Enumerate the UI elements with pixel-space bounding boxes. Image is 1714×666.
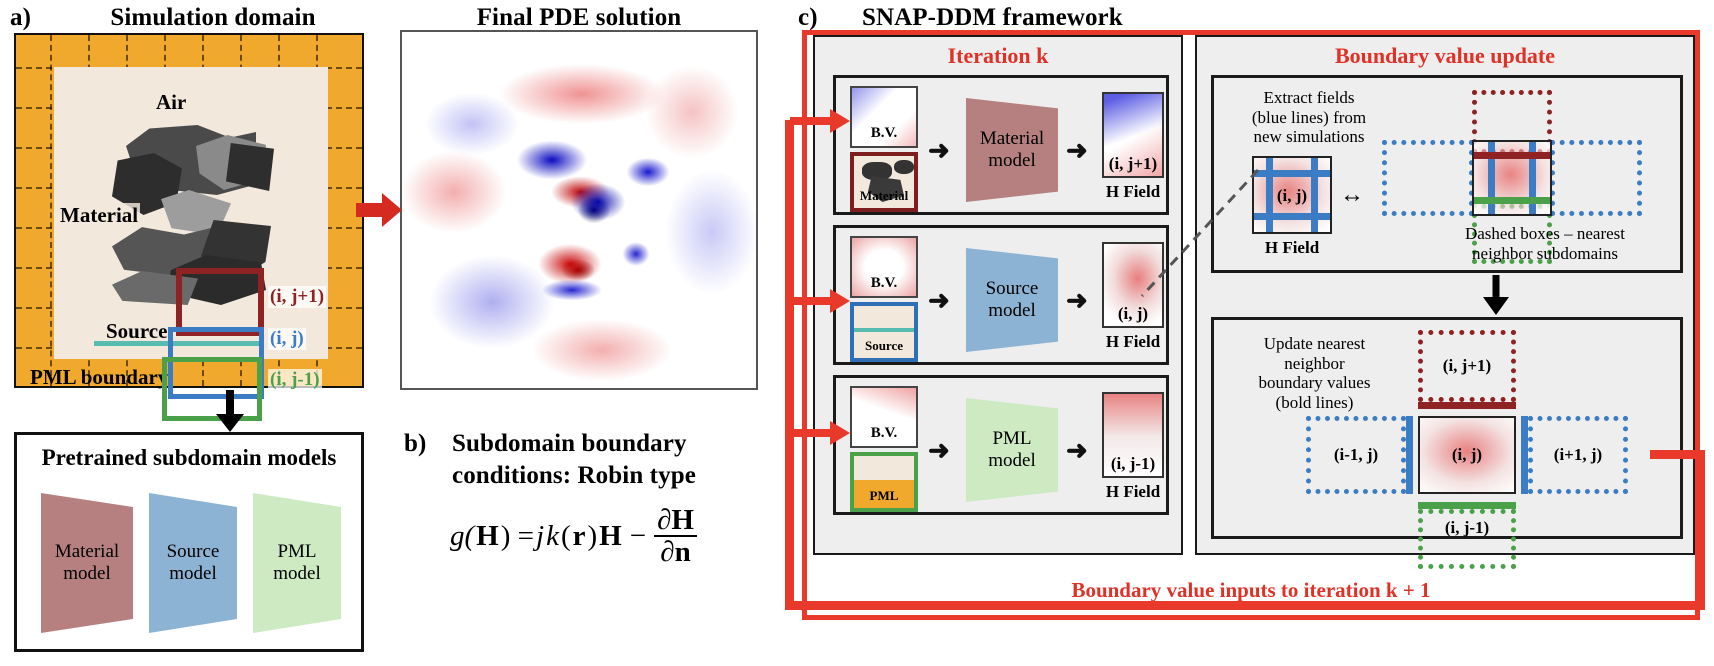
bv-input-source: B.V. xyxy=(850,236,918,298)
input-type-label: PML xyxy=(854,488,914,504)
arrow-to-model-icon: ➜ xyxy=(928,138,950,164)
material-row: B.V. Material ➜ Material model ➜ (i, j+1… xyxy=(833,75,1169,215)
extract-line2: (blue lines) from xyxy=(1252,108,1366,127)
neighbor-center-field xyxy=(1472,140,1552,216)
model-label-line1: Source xyxy=(986,278,1039,299)
panel-b-title-line2: conditions: Robin type xyxy=(452,462,696,490)
bv-input-pml: B.V. xyxy=(850,386,918,448)
source-row: B.V. Source ➜ Source model ➜ (i, j) H Fi… xyxy=(833,225,1169,365)
final-pde-solution-figure xyxy=(400,30,758,390)
right-arrow-to-pde xyxy=(356,192,402,228)
subdomain-box-top xyxy=(176,268,264,336)
model-label-line2: model xyxy=(988,450,1036,471)
note-line2: neighbor subdomains xyxy=(1472,244,1618,263)
model-shape-source: Source model xyxy=(149,493,237,633)
model-shape-material: Material model xyxy=(41,493,133,633)
update-neighbors-text: Update nearest neighbor boundary values … xyxy=(1222,334,1407,412)
dashed-connector xyxy=(1140,168,1260,298)
index-label-bottom: (i, j-1) xyxy=(268,369,322,391)
feedback-bus-right-vertical xyxy=(1696,450,1705,610)
eq-g: g( xyxy=(450,520,474,553)
boundary-update-panel: Boundary value update Extract fields (bl… xyxy=(1195,35,1695,555)
bold-line-bottom xyxy=(1418,502,1516,509)
eq-k: k xyxy=(546,520,559,553)
neighbor-dash-left xyxy=(1382,140,1474,216)
output-index-label: (i, j-1) xyxy=(1104,454,1162,474)
hfield-output-pml: (i, j-1) xyxy=(1102,392,1164,478)
feedback-arrow-source xyxy=(790,288,850,314)
model-shape-material: Material model xyxy=(966,98,1058,202)
extract-fields-text: Extract fields (blue lines) from new sim… xyxy=(1224,88,1394,147)
feedback-arrow-pml xyxy=(790,420,850,446)
output-index-label: (i, j) xyxy=(1104,304,1162,324)
model-label-line2: model xyxy=(63,563,111,584)
arrow-to-model-icon: ➜ xyxy=(928,288,950,314)
model-label-line2: model xyxy=(169,563,217,584)
update-line1: Update nearest xyxy=(1264,334,1365,353)
model-label-line1: Source xyxy=(167,541,220,562)
panel-b-title-line1: Subdomain boundary xyxy=(452,430,687,458)
neighbor-label-bottom: (i, j-1) xyxy=(1445,518,1489,538)
model-label-line2: model xyxy=(273,563,321,584)
update-line4: (bold lines) xyxy=(1276,393,1354,412)
update-line3: boundary values xyxy=(1259,373,1371,392)
update-line2: neighbor xyxy=(1284,354,1344,373)
feedback-bus-right-stub xyxy=(1650,450,1705,459)
extract-field-index: (i, j) xyxy=(1254,186,1330,206)
eq-minus: − xyxy=(630,520,646,553)
eq-H2: H xyxy=(599,520,622,553)
hfield-caption: H Field xyxy=(1102,482,1164,502)
neighbor-dash-right xyxy=(1550,140,1642,216)
model-label-line2: model xyxy=(988,150,1036,171)
model-label-line2: model xyxy=(988,300,1036,321)
neighbor-label-right: (i+1, j) xyxy=(1554,445,1602,465)
eq-H1: H xyxy=(476,520,499,553)
model-shape-pml: PML model xyxy=(253,493,341,633)
update-neighbor-top: (i, j+1) xyxy=(1418,330,1516,402)
eq-frac-denominator: ∂n xyxy=(654,537,697,567)
pml-row: B.V. PML ➜ PML model ➜ (i, j-1) H Field xyxy=(833,375,1169,515)
input-type-label: Material xyxy=(854,188,914,204)
eq-frac-numerator: ∂H xyxy=(654,505,697,537)
robin-equation: g( H ) = j k ( r ) H − ∂H ∂n xyxy=(450,505,750,568)
eq-paren-close: ) xyxy=(587,520,597,553)
iteration-title: Iteration k xyxy=(815,43,1181,69)
bv-input-material: B.V. xyxy=(850,86,918,148)
index-label-middle: (i, j) xyxy=(268,328,306,350)
panel-c-tag: c) xyxy=(798,4,818,32)
index-label-top: (i, j+1) xyxy=(268,286,326,308)
bv-label: B.V. xyxy=(852,275,916,292)
update-center-field: (i, j) xyxy=(1418,416,1516,494)
update-neighbor-right: (i+1, j) xyxy=(1528,416,1628,494)
arrow-to-output-icon: ➜ xyxy=(1066,288,1088,314)
down-arrow-to-models xyxy=(210,390,250,432)
neighbor-label-top: (i, j+1) xyxy=(1443,356,1491,376)
pretrained-models-title: Pretrained subdomain models xyxy=(17,445,361,471)
bold-line-left xyxy=(1406,416,1413,494)
pde-panel-title: Final PDE solution xyxy=(400,4,758,32)
model-shape-source: Source model xyxy=(966,248,1058,352)
note-line1: Dashed boxes – nearest xyxy=(1465,224,1625,243)
model-label-line1: Material xyxy=(55,541,119,562)
update-neighbor-left: (i-1, j) xyxy=(1306,416,1406,494)
hfield-output-material: (i, j+1) xyxy=(1102,92,1164,178)
eq-equals: ) = xyxy=(501,520,534,553)
feedback-loop-label: Boundary value inputs to iteration k + 1 xyxy=(807,578,1695,603)
pretrained-models-box: Pretrained subdomain models Material mod… xyxy=(14,432,364,652)
eq-paren-open: ( xyxy=(561,520,571,553)
update-neighbor-bottom: (i, j-1) xyxy=(1418,509,1516,569)
model-shape-pml: PML model xyxy=(966,398,1058,502)
update-neighbors-subpanel: Update nearest neighbor boundary values … xyxy=(1211,317,1683,539)
input-type-label: Source xyxy=(854,338,914,354)
extract-hfield-thumb: (i, j) xyxy=(1252,156,1332,234)
hfield-caption: H Field xyxy=(1102,332,1164,352)
material-input-thumb: Material xyxy=(850,152,918,212)
iteration-panel: Iteration k B.V. Material ➜ Material mod… xyxy=(813,35,1183,555)
snap-ddm-framework-container: Iteration k B.V. Material ➜ Material mod… xyxy=(802,30,1700,620)
bv-label: B.V. xyxy=(852,425,916,442)
model-label-line1: PML xyxy=(277,541,316,562)
arrow-to-output-icon: ➜ xyxy=(1066,138,1088,164)
boundary-update-title: Boundary value update xyxy=(1197,43,1693,69)
panel-a-title: Simulation domain xyxy=(68,4,358,32)
neighbor-label-left: (i-1, j) xyxy=(1334,445,1378,465)
dashed-boxes-note: Dashed boxes – nearest neighbor subdomai… xyxy=(1410,224,1680,263)
down-arrow-between-subpanels xyxy=(1479,275,1513,315)
arrow-to-output-icon: ➜ xyxy=(1066,438,1088,464)
extract-field-caption: H Field xyxy=(1252,238,1332,258)
feedback-arrow-material xyxy=(790,108,850,134)
bold-line-top xyxy=(1418,402,1516,409)
simulation-domain-figure: Air Material Source PML boundary (i, j+1… xyxy=(14,33,364,388)
label-material: Material xyxy=(58,203,140,228)
pml-input-thumb: PML xyxy=(850,452,918,512)
model-label-line1: Material xyxy=(980,128,1044,149)
bidirectional-arrow-icon: ↔ xyxy=(1340,182,1364,209)
bold-line-right xyxy=(1521,416,1528,494)
feedback-bus-vertical xyxy=(785,120,794,610)
arrow-to-model-icon: ➜ xyxy=(928,438,950,464)
eq-r: r xyxy=(573,520,586,553)
label-air: Air xyxy=(154,90,188,115)
bv-label: B.V. xyxy=(852,125,916,142)
panel-a-tag: a) xyxy=(10,4,31,32)
extract-line3: new simulations xyxy=(1254,127,1365,146)
feedback-bus-bottom xyxy=(785,601,1705,610)
label-pml-boundary: PML boundary xyxy=(28,365,170,390)
eq-j: j xyxy=(536,520,544,553)
extract-line1: Extract fields xyxy=(1263,88,1354,107)
panel-c-title: SNAP-DDM framework xyxy=(862,4,1123,32)
source-input-thumb: Source xyxy=(850,302,918,362)
neighbor-label-center: (i, j) xyxy=(1452,445,1482,465)
extract-fields-subpanel: Extract fields (blue lines) from new sim… xyxy=(1211,75,1683,273)
panel-b-tag: b) xyxy=(404,430,426,458)
model-label-line1: PML xyxy=(992,428,1031,449)
